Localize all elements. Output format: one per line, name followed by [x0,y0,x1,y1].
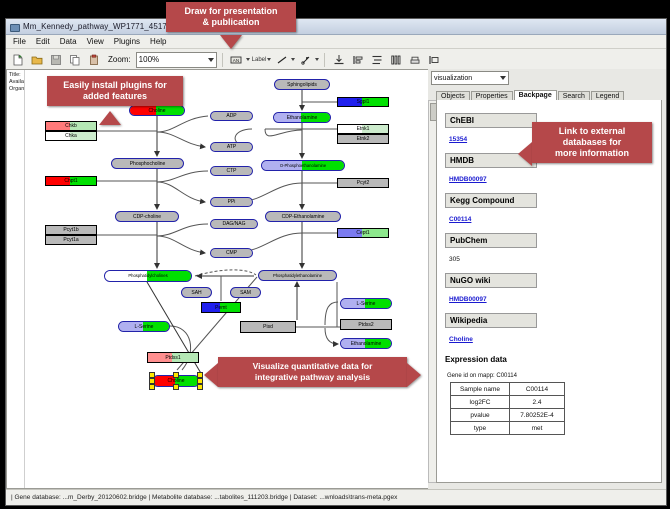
pathway-node-etnk1[interactable]: Etnk1 [337,124,389,134]
db-pubchem-value: 305 [449,256,460,263]
pathway-node-dagnag[interactable]: DAG/NAG [210,219,258,229]
pathway-node-chka[interactable]: Chka [45,131,97,141]
pathway-node-sam[interactable]: SAM [230,287,261,298]
pathway-node-ptdss2[interactable]: Ptdss2 [340,319,392,330]
pathway-node-ctp[interactable]: CTP [210,166,253,176]
pathway-node-o_phosphoethanolamine[interactable]: O-Phosphoethanolamine [261,160,345,171]
label-tool-text: Label [252,57,267,63]
node-label: Etnk1 [357,126,370,132]
menu-help[interactable]: Help [145,37,171,46]
node-label: Pcyt2 [357,180,370,186]
pathway-node-ethanolamine_bottom[interactable]: Ethanolamine [340,338,392,349]
node-label: Cept1 [356,230,369,236]
selection-handle[interactable] [197,384,203,390]
paste-icon[interactable] [85,51,102,68]
pathway-canvas[interactable]: Title: Availa Organ [6,69,428,489]
pathway-node-cdp_ethanolamine[interactable]: CDP-Ethanolamine [265,211,341,222]
node-label: PPi [228,199,236,205]
canvas-divider [24,70,25,488]
links-callout-arrow [518,142,532,166]
node-label: ADP [226,113,236,119]
chevron-down-icon[interactable] [291,58,295,61]
node-label: DAG/NAG [222,221,245,227]
db-chebi-header: ChEBI [445,113,537,128]
pathvisio-icon [9,22,19,32]
expr-key-type: type [451,422,510,435]
expr-key-pvalue: pvalue [451,409,510,422]
node-label: Pcyt1b [63,227,78,233]
zoom-value: 100% [139,55,159,64]
expr-key-sample: Sample name [451,383,510,396]
node-label: CDP-Ethanolamine [282,214,325,220]
title-bar: Mm_Kennedy_pathway_WP1771_45176.gpml [6,19,666,35]
pathway-node-chkb[interactable]: Chkb [45,121,97,131]
plugins-callout-arrow [99,111,121,125]
line-icon[interactable] [273,51,290,68]
new-file-icon[interactable] [9,51,26,68]
node-label: CMP [226,250,237,256]
table-row: Sample name C00114 [451,383,565,396]
line-tool[interactable] [273,51,295,68]
pathway-node-cdp_choline[interactable]: CDP-choline [115,211,179,222]
visualize-callout: Visualize quantitative data for integrat… [218,357,407,387]
status-text: | Gene database: ...m_Derby_20120602.bri… [6,494,397,501]
toolbar: Zoom: 100% AN Label [6,49,666,71]
svg-text:AN: AN [233,57,239,62]
gene-id-line: Gene id on mapp: C00114 [447,373,653,379]
node-label: Phosphocholine [130,161,166,167]
node-label: Choline [149,108,166,114]
pathway-node-pemt[interactable]: Pemt [201,302,241,313]
copy-icon[interactable] [66,51,83,68]
meta-title: Title: [9,72,24,79]
send-to-back-icon[interactable] [425,51,442,68]
visualize-callout-arrow-right [407,363,421,387]
datanode-tool[interactable]: AN [228,51,250,68]
db-hmdb-link[interactable]: HMDB00097 [449,176,487,183]
menu-bar: File Edit Data View Plugins Help [6,35,666,49]
visualize-callout-arrow-left [204,363,218,387]
node-label: Phosphatidylcholines [128,273,167,279]
bring-to-front-icon[interactable] [406,51,423,68]
links-callout-line2: databases for [563,137,622,147]
db-nugo-link[interactable]: HMDB00097 [449,296,487,303]
pathway-node-ptdss1[interactable]: Ptdss1 [147,352,199,363]
pathway-node-choline_top[interactable]: Choline [129,105,185,116]
pathway-node-etnk2[interactable]: Etnk2 [337,134,389,144]
draw-callout: Draw for presentation & publication [166,2,296,32]
node-label: L-Serine [357,301,376,307]
interaction-tool[interactable] [297,51,319,68]
open-folder-icon[interactable] [28,51,45,68]
visualize-callout-line2: integrative pathway analysis [255,372,370,382]
node-label: O-Phosphoethanolamine [280,163,326,169]
pathway-node-sgpl1[interactable]: Sgpl1 [337,97,389,107]
zoom-select[interactable]: 100% [136,52,217,68]
chevron-down-icon [208,58,214,62]
pathway-node-phosphatidylcholines[interactable]: Phosphatidylcholines [104,270,192,282]
pathway-node-sah[interactable]: SAH [181,287,212,298]
node-label: Chkb [65,123,77,129]
selection-handle[interactable] [173,384,179,390]
node-label: Ptdss2 [358,322,373,328]
pathway-node-adp[interactable]: ADP [210,111,253,121]
expr-val-type: met [510,422,565,435]
label-tool[interactable]: Label [252,57,272,63]
pathway-node-pcyt1a[interactable]: Pcyt1a [45,235,97,245]
plugins-callout: Easily install plugins for added feature… [47,76,183,106]
zoom-label: Zoom: [108,55,131,64]
pathway-node-pisd[interactable]: Pisd [240,321,296,333]
table-row: log2FC 2.4 [451,396,565,409]
node-label: CDP-choline [133,214,161,220]
draw-callout-line2: & publication [203,17,260,27]
expr-key-log2fc: log2FC [451,396,510,409]
pathway-node-ppi[interactable]: PPi [210,197,253,207]
links-callout-line1: Link to external [559,126,626,136]
node-label: Pemt [215,305,227,311]
node-label: SAH [191,290,201,296]
db-wikipedia-header: Wikipedia [445,313,537,328]
table-row: type met [451,422,565,435]
node-label: Ptdss1 [165,355,180,361]
db-nugo-header: NuGO wiki [445,273,537,288]
save-icon[interactable] [47,51,64,68]
links-callout-line3: more information [555,148,629,158]
pathvisio-window: Mm_Kennedy_pathway_WP1771_45176.gpml Fil… [5,18,667,506]
datanode-icon[interactable]: AN [228,51,245,68]
node-label: Chpt1 [64,178,77,184]
distribute-vertical-icon[interactable] [368,51,385,68]
pathway-meta: Title: Availa Organ [9,72,24,93]
node-label: Sphingolipids [287,82,317,88]
db-kegg-header: Kegg Compound [445,193,537,208]
node-label: Etnk2 [357,136,370,142]
db-wikipedia-link[interactable]: Choline [449,336,473,343]
expr-val-pvalue: 7.80252E-4 [510,409,565,422]
links-callout: Link to external databases for more info… [532,122,652,163]
pathway-node-cept1[interactable]: Cept1 [337,228,389,238]
visualization-select-value: visualization [434,75,472,82]
side-panel-tabs: Objects Properties Backpage Search Legen… [436,87,662,101]
menu-file[interactable]: File [8,37,31,46]
draw-callout-arrow [220,35,242,49]
chevron-down-icon[interactable] [315,58,319,61]
align-bottom-icon[interactable] [330,51,347,68]
toolbar-separator [222,53,223,67]
pathway-node-phosphatidylethanolamine[interactable]: Phosphatidylethanolamine [258,270,337,281]
plugins-callout-line2: added features [83,91,147,101]
align-left-icon[interactable] [349,51,366,68]
expr-val-sample: C00114 [510,383,565,396]
db-kegg-link[interactable]: C00114 [449,216,471,223]
chevron-down-icon [500,76,506,80]
selection-handle[interactable] [149,384,155,390]
chevron-down-icon[interactable] [246,58,250,61]
node-label: ATP [227,144,236,150]
screenshot-root: Mm_Kennedy_pathway_WP1771_45176.gpml Fil… [0,0,670,509]
pathway-node-ethanolamine[interactable]: Ethanolamine [273,112,331,123]
expression-table: Sample name C00114 log2FC 2.4 pvalue 7.8… [450,382,565,435]
pathway-node-sphingolipids[interactable]: Sphingolipids [274,79,330,90]
draw-callout-line1: Draw for presentation [184,6,277,16]
pathway-node-l_serine_right[interactable]: L-Serine [340,298,392,309]
toolbar-separator [324,53,325,67]
pathway-node-phosphocholine[interactable]: Phosphocholine [111,158,184,169]
db-pubchem-header: PubChem [445,233,537,248]
node-label: L-Serine [135,324,154,330]
menu-edit[interactable]: Edit [31,37,55,46]
pathway-node-pcyt1b[interactable]: Pcyt1b [45,225,97,235]
plugins-callout-line1: Easily install plugins for [63,80,167,90]
expr-val-log2fc: 2.4 [510,396,565,409]
node-label: SAM [240,290,251,296]
pathway-node-cmp[interactable]: CMP [210,248,253,258]
expression-data-header: Expression data [445,355,653,364]
table-row: pvalue 7.80252E-4 [451,409,565,422]
set-common-width-icon[interactable] [387,51,404,68]
menu-data[interactable]: Data [55,37,82,46]
node-label: Pcyt1a [63,237,78,243]
node-label: Sgpl1 [357,99,370,105]
pathway-node-pcyt2[interactable]: Pcyt2 [337,178,389,188]
status-bar: | Gene database: ...m_Derby_20120602.bri… [6,489,666,505]
node-label: Phosphatidylethanolamine [273,273,322,279]
node-label: Pisd [263,324,273,330]
db-chebi-link[interactable]: 15354 [449,136,467,143]
interaction-icon[interactable] [297,51,314,68]
chevron-down-icon[interactable] [267,58,271,61]
visualization-select[interactable]: visualization [431,71,509,85]
selection-handle[interactable] [173,372,179,378]
meta-available: Availa [9,79,24,86]
pathway-node-l_serine_left[interactable]: L-Serine [118,321,170,332]
node-label: Ethanolamine [287,115,318,121]
node-label: Chka [65,133,77,139]
pathway-node-chpt1_left[interactable]: Chpt1 [45,176,97,186]
menu-plugins[interactable]: Plugins [109,37,145,46]
pathway-node-atp[interactable]: ATP [210,142,253,152]
visualize-callout-line1: Visualize quantitative data for [253,361,373,371]
meta-organism: Organ [9,86,24,93]
node-label: Ethanolamine [351,341,382,347]
menu-view[interactable]: View [82,37,109,46]
node-label: CTP [227,168,237,174]
